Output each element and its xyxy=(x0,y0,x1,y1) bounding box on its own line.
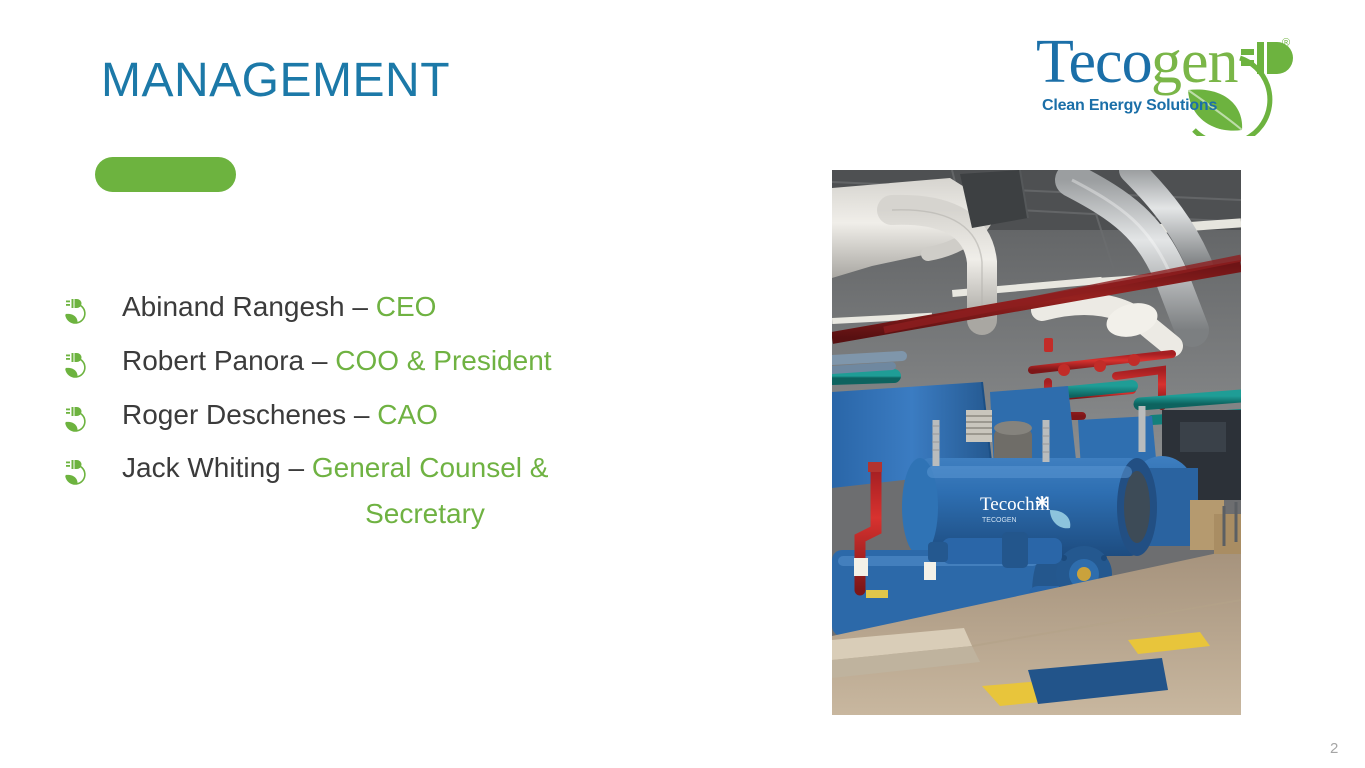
green-accent-pill xyxy=(95,157,236,192)
person-name: Roger Deschenes xyxy=(122,399,346,430)
list-item: Roger Deschenes – CAO xyxy=(58,391,658,445)
tecogen-plug-leaf-icon xyxy=(62,293,88,321)
mechanical-room-photo: Tecochill TECOGEN xyxy=(832,170,1241,715)
name-role-separator: – xyxy=(345,291,376,322)
person-name: Jack Whiting xyxy=(122,452,281,483)
name-role-separator: – xyxy=(346,399,377,430)
svg-text:Clean Energy Solutions: Clean Energy Solutions xyxy=(1042,97,1217,114)
list-item: Jack Whiting – General Counsel &Secretar… xyxy=(58,445,588,537)
person-role: COO & President xyxy=(335,345,551,376)
name-role-separator: – xyxy=(304,345,335,376)
slide-canvas: MANAGEMENT Teco gen ® Clean Energy Solut… xyxy=(0,0,1365,768)
name-role-separator: – xyxy=(281,452,312,483)
person-role-line-1: General Counsel & xyxy=(312,452,549,483)
list-item: Abinand Rangesh – CEO xyxy=(58,283,658,337)
list-item: Robert Panora – COO & President xyxy=(58,337,658,391)
page-number: 2 xyxy=(1330,740,1338,757)
page-title: MANAGEMENT xyxy=(101,52,450,110)
management-list: Abinand Rangesh – CEO Robert Panora – CO… xyxy=(58,283,658,537)
tecogen-plug-leaf-icon xyxy=(62,401,88,429)
svg-text:®: ® xyxy=(1282,37,1290,49)
person-name: Abinand Rangesh xyxy=(122,291,345,322)
person-role: CEO xyxy=(376,291,437,322)
svg-text:TECOGEN: TECOGEN xyxy=(982,517,1017,524)
tecogen-plug-leaf-icon xyxy=(62,455,88,483)
person-role: CAO xyxy=(377,399,438,430)
tecogen-plug-leaf-icon xyxy=(62,347,88,375)
svg-text:Teco: Teco xyxy=(1036,28,1152,96)
person-role-line-2: Secretary xyxy=(122,491,588,537)
person-name: Robert Panora xyxy=(122,345,304,376)
tecogen-logo: Teco gen ® Clean Energy Solutions xyxy=(1036,24,1302,136)
svg-text:gen: gen xyxy=(1151,28,1239,96)
